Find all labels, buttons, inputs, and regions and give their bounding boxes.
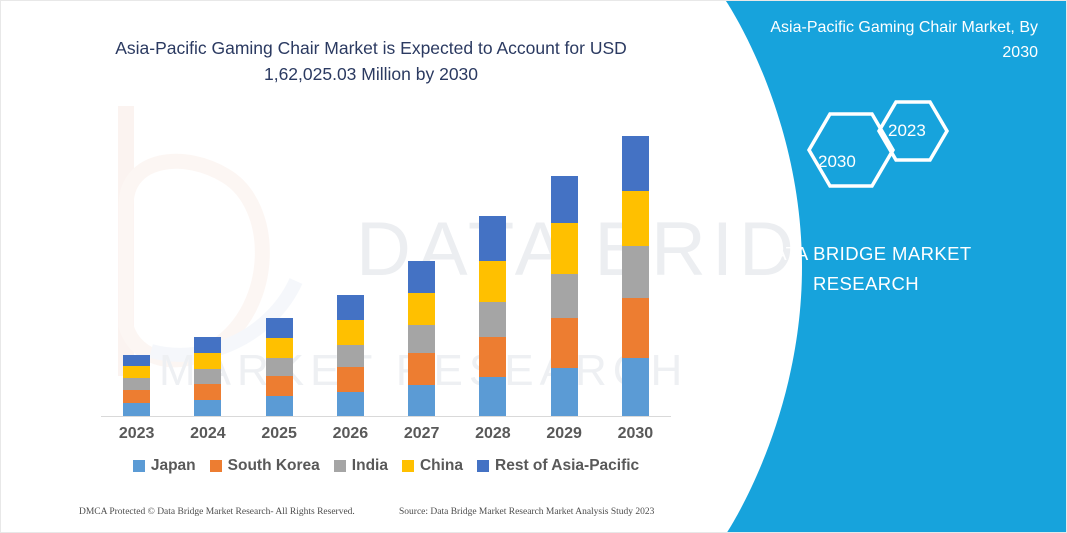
x-axis-line: [101, 416, 671, 417]
bar-column[interactable]: [123, 355, 150, 416]
bar-segment: [622, 191, 649, 246]
legend-item[interactable]: Rest of Asia-Pacific: [477, 457, 639, 475]
brand-line-2: RESEARCH: [706, 269, 1026, 299]
legend-label: Rest of Asia-Pacific: [495, 457, 639, 475]
legend-swatch: [477, 460, 489, 472]
bar-segment: [408, 353, 435, 385]
bar-segment: [551, 368, 578, 416]
legend-swatch: [402, 460, 414, 472]
bar-segment: [123, 366, 150, 378]
hexagon-badges: 2030 2023: [776, 93, 996, 208]
bar-column[interactable]: [551, 176, 578, 416]
market-report-infographic: DATA BRIDGE MARKET RESEARCH Asia-Pacific…: [0, 0, 1067, 533]
bar-segment: [551, 176, 578, 223]
bar-segment: [266, 358, 293, 376]
bar-segment: [123, 403, 150, 416]
bar-segment: [622, 298, 649, 358]
legend-label: India: [352, 457, 388, 475]
x-axis-labels: 20232024202520262027202820292030: [101, 425, 671, 451]
bar-column[interactable]: [194, 337, 221, 416]
bar-segment: [337, 392, 364, 416]
bar-segment: [408, 261, 435, 293]
bar-segment: [337, 320, 364, 345]
bar-column[interactable]: [479, 216, 506, 416]
bar-segment: [194, 369, 221, 384]
chart-title: Asia-Pacific Gaming Chair Market is Expe…: [71, 35, 671, 87]
chart-footer: DMCA Protected © Data Bridge Market Rese…: [79, 507, 689, 523]
bar-segment: [479, 377, 506, 416]
x-axis-tick-label: 2028: [458, 425, 528, 443]
legend-item[interactable]: South Korea: [210, 457, 320, 475]
legend-label: South Korea: [228, 457, 320, 475]
legend-label: China: [420, 457, 463, 475]
chart-plot-area: [101, 116, 671, 416]
bar-segment: [408, 293, 435, 325]
bar-segment: [551, 318, 578, 368]
blue-panel-content: Asia-Pacific Gaming Chair Market, By 203…: [666, 1, 1066, 533]
footer-source: Source: Data Bridge Market Research Mark…: [399, 507, 654, 517]
bar-segment: [622, 136, 649, 191]
bar-segment: [266, 376, 293, 396]
bar-segment: [194, 400, 221, 416]
legend-swatch: [334, 460, 346, 472]
x-axis-tick-label: 2029: [529, 425, 599, 443]
legend-label: Japan: [151, 457, 196, 475]
hexagon-2030-shape: [809, 114, 893, 186]
bar-segment: [266, 318, 293, 338]
bar-column[interactable]: [408, 261, 435, 416]
legend-swatch: [133, 460, 145, 472]
x-axis-tick-label: 2024: [173, 425, 243, 443]
brand-name: DATA BRIDGE MARKET RESEARCH: [706, 239, 1026, 299]
bar-segment: [479, 216, 506, 261]
footer-copyright: DMCA Protected © Data Bridge Market Rese…: [79, 507, 355, 517]
bar-segment: [337, 345, 364, 367]
bar-segment: [408, 385, 435, 416]
bar-segment: [479, 302, 506, 337]
bar-segment: [123, 390, 150, 403]
bar-column[interactable]: [622, 136, 649, 416]
bar-segment: [479, 337, 506, 377]
brand-line-1: DATA BRIDGE MARKET: [706, 239, 1026, 269]
chart-legend: JapanSouth KoreaIndiaChinaRest of Asia-P…: [101, 457, 671, 475]
bar-segment: [337, 295, 364, 320]
bar-segment: [266, 396, 293, 416]
bar-segment: [408, 325, 435, 353]
bar-segment: [194, 337, 221, 353]
x-axis-tick-label: 2023: [102, 425, 172, 443]
x-axis-tick-label: 2027: [387, 425, 457, 443]
legend-item[interactable]: Japan: [133, 457, 196, 475]
bar-column[interactable]: [337, 295, 364, 416]
legend-item[interactable]: India: [334, 457, 388, 475]
bar-segment: [337, 367, 364, 392]
bar-segment: [123, 378, 150, 390]
hexagon-label-2030: 2030: [818, 152, 856, 172]
bar-segment: [194, 384, 221, 400]
bar-segment: [479, 261, 506, 302]
bar-column[interactable]: [266, 318, 293, 416]
bar-segment: [194, 353, 221, 369]
x-axis-tick-label: 2025: [244, 425, 314, 443]
legend-item[interactable]: China: [402, 457, 463, 475]
bar-segment: [622, 246, 649, 298]
legend-swatch: [210, 460, 222, 472]
bar-segment: [551, 223, 578, 274]
bar-segment: [551, 274, 578, 318]
x-axis-tick-label: 2026: [315, 425, 385, 443]
hexagon-label-2023: 2023: [888, 121, 926, 141]
bar-segment: [123, 355, 150, 366]
x-axis-tick-label: 2030: [600, 425, 670, 443]
panel-title: Asia-Pacific Gaming Chair Market, By 203…: [738, 15, 1038, 65]
bar-segment: [622, 358, 649, 416]
bar-segment: [266, 338, 293, 358]
hexagon-outlines: [776, 93, 996, 208]
chart-panel: DATA BRIDGE MARKET RESEARCH Asia-Pacific…: [1, 1, 741, 533]
